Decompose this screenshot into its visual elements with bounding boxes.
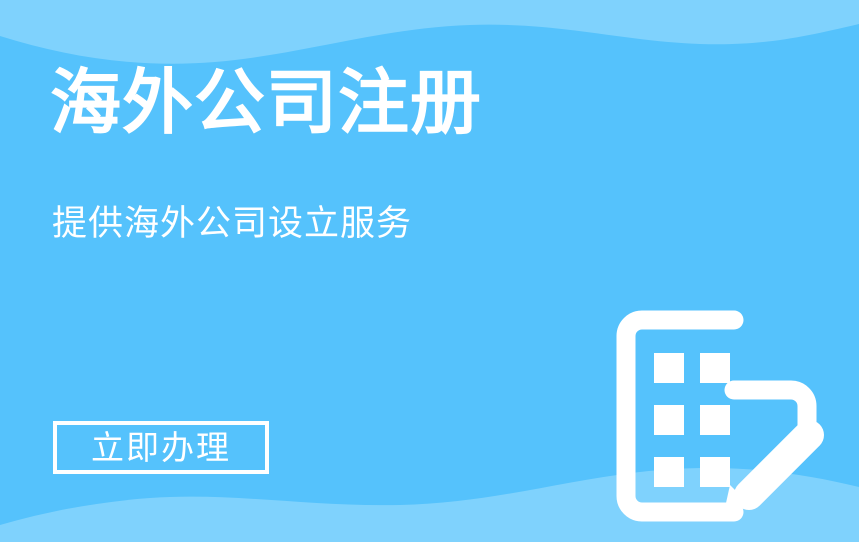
pencil-body — [749, 435, 809, 495]
building-registration-pencil-svg — [606, 300, 826, 525]
building-registration-pencil-icon — [606, 300, 826, 525]
building-window — [700, 457, 730, 487]
page-title: 海外公司注册 — [50, 68, 482, 139]
building-window — [654, 405, 684, 435]
page-subtitle: 提供海外公司设立服务 — [52, 206, 412, 241]
building-window — [654, 457, 684, 487]
building-window — [700, 353, 730, 383]
apply-now-button[interactable]: 立即办理 — [53, 421, 269, 474]
banner-content: 海外公司注册 提供海外公司设立服务 立即办理 — [50, 0, 610, 542]
overseas-company-registration-banner: 海外公司注册 提供海外公司设立服务 立即办理 — [0, 0, 859, 542]
building-window — [700, 405, 730, 435]
building-window — [654, 353, 684, 383]
building-window-grid — [654, 353, 730, 487]
